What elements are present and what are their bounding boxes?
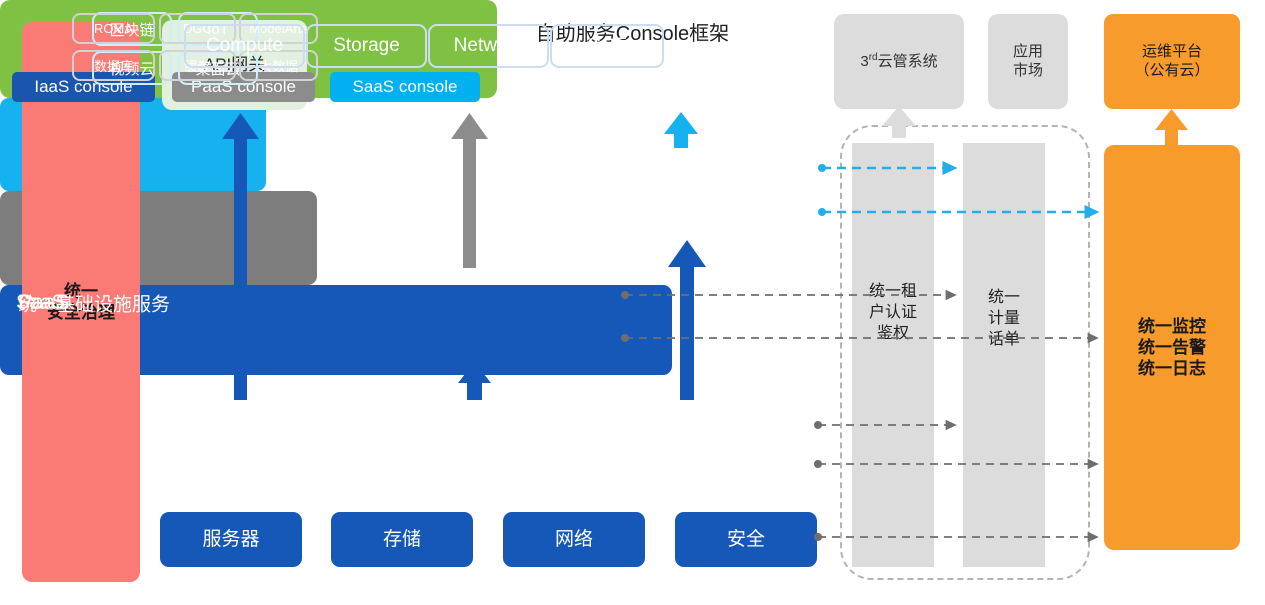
paas-chip-database[interactable]: 数据库	[72, 50, 155, 81]
hardware-box-security[interactable]: 安全	[675, 512, 817, 567]
third-party-cloud-mgmt-label: 3rd云管系统	[860, 52, 937, 72]
architecture-diagram: 统一 安全治理 API网关 自助服务Console框架 IaaS console…	[0, 0, 1265, 605]
unified-monitoring-rail: 统一监控 统一告警 统一日志	[1104, 145, 1240, 550]
infra-chip-cce[interactable]: CCE	[550, 24, 664, 68]
unified-tenant-auth-label: 统一租 户认证 鉴权	[852, 282, 934, 344]
hardware-box-server[interactable]: 服务器	[160, 512, 302, 567]
app-market-label: 应用 市场	[1013, 43, 1043, 81]
hardware-box-storage[interactable]: 存储	[331, 512, 473, 567]
arrow-ops-rail-to-ops-platform	[1155, 109, 1188, 145]
hardware-box-network[interactable]: 网络	[503, 512, 645, 567]
ops-platform-public-cloud-box: 运维平台 （公有云）	[1104, 14, 1240, 109]
unified-metering-label: 统一 计量 话单	[963, 288, 1045, 350]
ops-rail-label: 统一监控 统一告警 统一日志	[1138, 316, 1206, 380]
paas-chip-roma[interactable]: ROMA	[72, 13, 155, 44]
unified-metering-column	[963, 143, 1045, 567]
infra-chip-network[interactable]: Network	[428, 24, 549, 68]
app-market-box: 应用 市场	[988, 14, 1068, 109]
ops-platform-label: 运维平台 （公有云）	[1134, 43, 1209, 81]
arrow-infra-to-saas	[668, 240, 706, 400]
infra-chip-storage[interactable]: Storage	[306, 24, 427, 68]
arrow-paas-to-console	[451, 113, 488, 268]
saas-console-chip[interactable]: SaaS console	[330, 72, 480, 102]
third-party-cloud-mgmt-box: 3rd云管系统	[834, 14, 964, 109]
infra-chip-compute[interactable]: Compute	[184, 24, 305, 68]
infrastructure-label: 统一基础设施服务	[18, 289, 170, 316]
unified-tenant-auth-column	[852, 143, 934, 567]
arrow-saas-to-console	[664, 112, 698, 148]
